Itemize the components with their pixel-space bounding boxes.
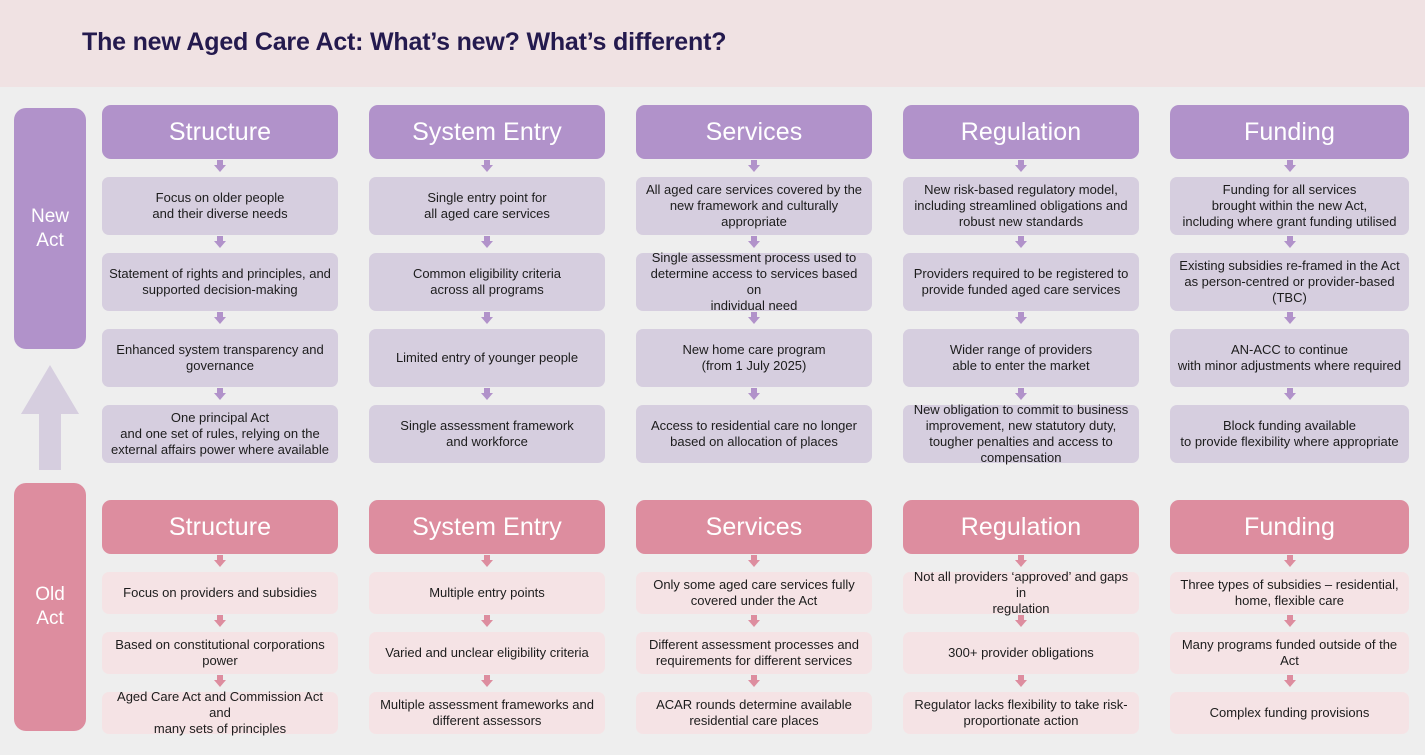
- down-arrow-icon: [903, 311, 1139, 329]
- arrow-glyph: [214, 165, 226, 172]
- flow-node-text: Access to residential care no longerbase…: [651, 418, 857, 450]
- flow-node: Not all providers ‘approved’ and gaps in…: [903, 572, 1139, 614]
- arrow-glyph: [481, 680, 493, 687]
- flow-node: Focus on older peopleand their diverse n…: [102, 177, 338, 235]
- flow-node: Multiple entry points: [369, 572, 605, 614]
- flow-node-text: Providers required to be registered topr…: [914, 266, 1129, 298]
- down-arrow-icon: [1170, 235, 1409, 253]
- upward-arrow-icon: [21, 365, 79, 470]
- flow-node-text: Single assessment process used todetermi…: [643, 250, 865, 314]
- flow-node: Statement of rights and principles, ands…: [102, 253, 338, 311]
- flow-node-text: Focus on older peopleand their diverse n…: [152, 190, 287, 222]
- flow-node: Based on constitutional corporationspowe…: [102, 632, 338, 674]
- infographic-canvas: The new Aged Care Act: What’s new? What’…: [0, 0, 1425, 755]
- down-arrow-icon: [903, 159, 1139, 177]
- column-structure: StructureFocus on older peopleand their …: [102, 105, 338, 463]
- arrow-glyph: [748, 393, 760, 400]
- flow-node-text: Block funding availableto provide flexib…: [1180, 418, 1398, 450]
- arrow-glyph: [1015, 317, 1027, 324]
- arrow-glyph: [748, 165, 760, 172]
- column-system-entry: System EntryMultiple entry pointsVaried …: [369, 500, 605, 734]
- flow-node: Regulator lacks flexibility to take risk…: [903, 692, 1139, 734]
- flow-node: New obligation to commit to businessimpr…: [903, 405, 1139, 463]
- arrow-stem: [39, 413, 61, 470]
- rail-old-act-line1: Old: [35, 583, 65, 607]
- flow-node-text: Wider range of providersable to enter th…: [950, 342, 1092, 374]
- flow-node: Existing subsidies re-framed in the Acta…: [1170, 253, 1409, 311]
- arrow-glyph: [481, 165, 493, 172]
- flow-node: Access to residential care no longerbase…: [636, 405, 872, 463]
- down-arrow-icon: [102, 614, 338, 632]
- arrow-glyph: [748, 680, 760, 687]
- arrow-glyph: [481, 317, 493, 324]
- arrow-glyph: [1284, 165, 1296, 172]
- down-arrow-icon: [636, 554, 872, 572]
- flow-node-text: New obligation to commit to businessimpr…: [914, 402, 1129, 466]
- down-arrow-icon: [636, 387, 872, 405]
- down-arrow-icon: [1170, 554, 1409, 572]
- flow-node-text: Aged Care Act and Commission Act andmany…: [109, 689, 331, 737]
- down-arrow-icon: [369, 614, 605, 632]
- arrow-glyph: [748, 241, 760, 248]
- flow-node: Providers required to be registered topr…: [903, 253, 1139, 311]
- band-new-act: StructureFocus on older peopleand their …: [102, 105, 1425, 483]
- flow-node-text: Focus on providers and subsidies: [123, 585, 317, 601]
- flow-node-text: Enhanced system transparency andgovernan…: [116, 342, 323, 374]
- flow-node-text: Complex funding provisions: [1210, 705, 1370, 721]
- arrow-glyph: [1284, 560, 1296, 567]
- down-arrow-icon: [1170, 311, 1409, 329]
- arrow-glyph: [1015, 680, 1027, 687]
- title-banner: The new Aged Care Act: What’s new? What’…: [0, 0, 1425, 87]
- arrow-glyph: [214, 393, 226, 400]
- down-arrow-icon: [102, 387, 338, 405]
- flow-node: Wider range of providersable to enter th…: [903, 329, 1139, 387]
- arrow-glyph: [214, 241, 226, 248]
- flow-node: Enhanced system transparency andgovernan…: [102, 329, 338, 387]
- column-header: System Entry: [369, 500, 605, 554]
- page-title: The new Aged Care Act: What’s new? What’…: [82, 28, 726, 57]
- column-regulation: RegulationNew risk-based regulatory mode…: [903, 105, 1139, 463]
- flow-node-text: Based on constitutional corporationspowe…: [115, 637, 325, 669]
- band-old-act: StructureFocus on providers and subsidie…: [102, 500, 1425, 755]
- rail-new-act-line2: Act: [31, 229, 69, 253]
- arrow-glyph: [481, 393, 493, 400]
- down-arrow-icon: [1170, 159, 1409, 177]
- down-arrow-icon: [636, 614, 872, 632]
- down-arrow-icon: [903, 235, 1139, 253]
- flow-node-text: Not all providers ‘approved’ and gaps in…: [910, 569, 1132, 617]
- down-arrow-icon: [1170, 614, 1409, 632]
- flow-node-text: 300+ provider obligations: [948, 645, 1094, 661]
- flow-node-text: Only some aged care services fullycovere…: [653, 577, 855, 609]
- down-arrow-icon: [903, 674, 1139, 692]
- column-system-entry: System EntrySingle entry point forall ag…: [369, 105, 605, 463]
- column-header: Services: [636, 105, 872, 159]
- column-header: System Entry: [369, 105, 605, 159]
- column-funding: FundingThree types of subsidies – reside…: [1170, 500, 1409, 734]
- down-arrow-icon: [102, 554, 338, 572]
- flow-node: Aged Care Act and Commission Act andmany…: [102, 692, 338, 734]
- arrow-glyph: [1284, 317, 1296, 324]
- flow-node: Many programs funded outside of theAct: [1170, 632, 1409, 674]
- flow-node-text: ACAR rounds determine availableresidenti…: [656, 697, 852, 729]
- down-arrow-icon: [636, 159, 872, 177]
- column-header: Regulation: [903, 105, 1139, 159]
- down-arrow-icon: [102, 311, 338, 329]
- down-arrow-icon: [1170, 674, 1409, 692]
- flow-node-text: Statement of rights and principles, ands…: [109, 266, 331, 298]
- flow-node-text: Multiple assessment frameworks anddiffer…: [380, 697, 594, 729]
- down-arrow-icon: [636, 674, 872, 692]
- arrow-glyph: [1284, 393, 1296, 400]
- flow-node-text: Regulator lacks flexibility to take risk…: [914, 697, 1127, 729]
- down-arrow-icon: [102, 235, 338, 253]
- column-header: Funding: [1170, 500, 1409, 554]
- arrow-glyph: [481, 620, 493, 627]
- down-arrow-icon: [1170, 387, 1409, 405]
- flow-node-text: Different assessment processes andrequir…: [649, 637, 859, 669]
- column-funding: FundingFunding for all servicesbrought w…: [1170, 105, 1409, 463]
- arrow-glyph: [748, 620, 760, 627]
- arrow-glyph: [1015, 241, 1027, 248]
- flow-node: Block funding availableto provide flexib…: [1170, 405, 1409, 463]
- flow-node: AN-ACC to continuewith minor adjustments…: [1170, 329, 1409, 387]
- arrow-glyph: [1284, 680, 1296, 687]
- flow-node: Single entry point forall aged care serv…: [369, 177, 605, 235]
- flow-node-text: Multiple entry points: [429, 585, 545, 601]
- flow-node-text: New risk-based regulatory model,includin…: [914, 182, 1127, 230]
- flow-node-text: Many programs funded outside of theAct: [1182, 637, 1397, 669]
- arrow-glyph: [748, 560, 760, 567]
- arrow-glyph: [1015, 620, 1027, 627]
- rail-old-act-line2: Act: [35, 607, 65, 631]
- flow-node-text: Single assessment frameworkand workforce: [400, 418, 573, 450]
- column-regulation: RegulationNot all providers ‘approved’ a…: [903, 500, 1139, 734]
- arrow-head: [21, 365, 79, 414]
- column-header: Regulation: [903, 500, 1139, 554]
- flow-node: Common eligibility criteriaacross all pr…: [369, 253, 605, 311]
- down-arrow-icon: [369, 159, 605, 177]
- flow-node: Single assessment frameworkand workforce: [369, 405, 605, 463]
- flow-node: Only some aged care services fullycovere…: [636, 572, 872, 614]
- flow-node: Limited entry of younger people: [369, 329, 605, 387]
- flow-node-text: AN-ACC to continuewith minor adjustments…: [1178, 342, 1401, 374]
- flow-node-text: All aged care services covered by thenew…: [646, 182, 862, 230]
- arrow-glyph: [214, 560, 226, 567]
- arrow-glyph: [1284, 620, 1296, 627]
- column-header: Funding: [1170, 105, 1409, 159]
- arrow-glyph: [481, 560, 493, 567]
- column-structure: StructureFocus on providers and subsidie…: [102, 500, 338, 734]
- down-arrow-icon: [369, 387, 605, 405]
- flow-node-text: Existing subsidies re-framed in the Acta…: [1179, 258, 1399, 306]
- flow-node: Complex funding provisions: [1170, 692, 1409, 734]
- arrow-glyph: [481, 241, 493, 248]
- flow-node: Multiple assessment frameworks anddiffer…: [369, 692, 605, 734]
- column-header: Structure: [102, 500, 338, 554]
- arrow-glyph: [1284, 241, 1296, 248]
- flow-node-text: Single entry point forall aged care serv…: [424, 190, 550, 222]
- column-header: Services: [636, 500, 872, 554]
- arrow-glyph: [1015, 560, 1027, 567]
- down-arrow-icon: [369, 235, 605, 253]
- column-services: ServicesAll aged care services covered b…: [636, 105, 872, 463]
- flow-node: 300+ provider obligations: [903, 632, 1139, 674]
- arrow-glyph: [1015, 393, 1027, 400]
- down-arrow-icon: [102, 159, 338, 177]
- flow-node-text: One principal Actand one set of rules, r…: [111, 410, 329, 458]
- side-rail: New Act Old Act: [0, 87, 100, 755]
- flow-node: Funding for all servicesbrought within t…: [1170, 177, 1409, 235]
- flow-node: New home care program(from 1 July 2025): [636, 329, 872, 387]
- flow-node: All aged care services covered by thenew…: [636, 177, 872, 235]
- flow-node: Different assessment processes andrequir…: [636, 632, 872, 674]
- down-arrow-icon: [369, 311, 605, 329]
- flow-node: New risk-based regulatory model,includin…: [903, 177, 1139, 235]
- flow-node-text: Funding for all servicesbrought within t…: [1183, 182, 1397, 230]
- arrow-glyph: [1015, 165, 1027, 172]
- column-header: Structure: [102, 105, 338, 159]
- arrow-glyph: [748, 317, 760, 324]
- flow-node-text: Limited entry of younger people: [396, 350, 578, 366]
- rail-label-old-act: Old Act: [14, 483, 86, 731]
- flow-node: Varied and unclear eligibility criteria: [369, 632, 605, 674]
- flow-node: Single assessment process used todetermi…: [636, 253, 872, 311]
- flow-node-text: Common eligibility criteriaacross all pr…: [413, 266, 561, 298]
- rail-new-act-line1: New: [31, 205, 69, 229]
- arrow-glyph: [214, 620, 226, 627]
- arrow-glyph: [214, 317, 226, 324]
- flow-node: One principal Actand one set of rules, r…: [102, 405, 338, 463]
- flow-node-text: New home care program(from 1 July 2025): [682, 342, 825, 374]
- flow-node: Focus on providers and subsidies: [102, 572, 338, 614]
- down-arrow-icon: [369, 674, 605, 692]
- down-arrow-icon: [369, 554, 605, 572]
- flow-node-text: Varied and unclear eligibility criteria: [385, 645, 589, 661]
- flow-node-text: Three types of subsidies – residential,h…: [1180, 577, 1398, 609]
- arrow-glyph: [214, 680, 226, 687]
- rail-label-new-act: New Act: [14, 108, 86, 349]
- flow-node: ACAR rounds determine availableresidenti…: [636, 692, 872, 734]
- column-services: ServicesOnly some aged care services ful…: [636, 500, 872, 734]
- flow-node: Three types of subsidies – residential,h…: [1170, 572, 1409, 614]
